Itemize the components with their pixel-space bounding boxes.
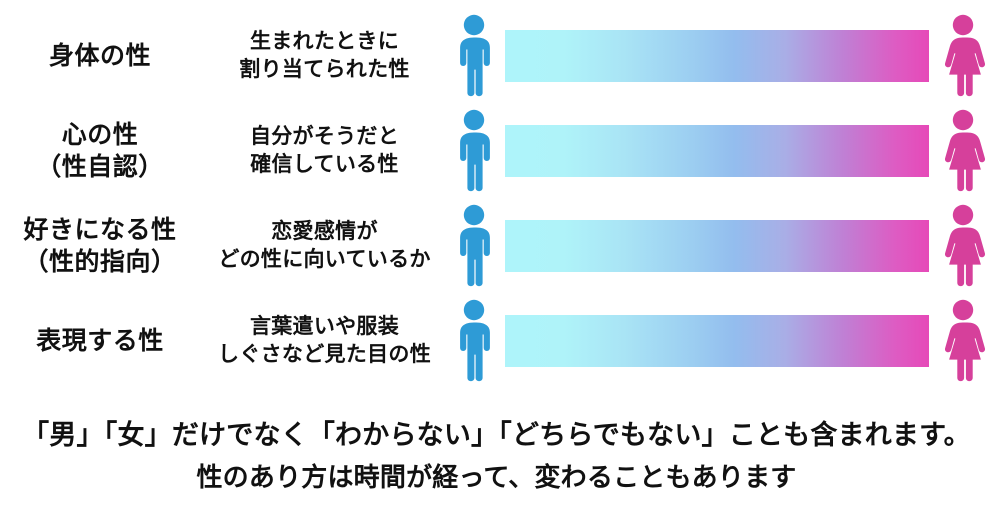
diagram-row: 身体の性 生まれたときに 割り当てられた性 xyxy=(0,8,993,103)
female-figure-icon xyxy=(933,14,993,98)
row-category-label: 身体の性 xyxy=(0,40,200,72)
male-figure-icon xyxy=(447,204,501,288)
row-description-label: 生まれたときに 割り当てられた性 xyxy=(202,28,447,83)
row-category-label: 表現する性 xyxy=(0,325,200,357)
gender-spectrum-bar xyxy=(505,315,929,367)
row-description-label: 言葉遣いや服装 しぐさなど見た目の性 xyxy=(202,313,447,368)
gender-spectrum-bar xyxy=(505,125,929,177)
row-category-label: 心の性 （性自認） xyxy=(0,119,200,183)
diagram-row: 好きになる性 （性的指向） 恋愛感情が どの性に向いているか xyxy=(0,198,993,293)
diagram-caption: 「男」「女」だけでなく「わからない」「どちらでもない」ことも含まれます。 性のあ… xyxy=(0,415,993,499)
gender-spectrum-diagram: 身体の性 生まれたときに 割り当てられた性 心の性 （性自認） 自分がそうだと … xyxy=(0,0,993,400)
gender-spectrum-bar xyxy=(505,30,929,82)
row-category-label: 好きになる性 （性的指向） xyxy=(0,214,200,278)
row-description-label: 自分がそうだと 確信している性 xyxy=(202,123,447,178)
female-figure-icon xyxy=(933,109,993,193)
female-figure-icon xyxy=(933,204,993,288)
male-figure-icon xyxy=(447,14,501,98)
diagram-row: 心の性 （性自認） 自分がそうだと 確信している性 xyxy=(0,103,993,198)
row-description-label: 恋愛感情が どの性に向いているか xyxy=(202,218,447,273)
gender-spectrum-bar xyxy=(505,220,929,272)
female-figure-icon xyxy=(933,299,993,383)
caption-line-2: 性のあり方は時間が経って、変わることもあります xyxy=(0,458,993,499)
diagram-row: 表現する性 言葉遣いや服装 しぐさなど見た目の性 xyxy=(0,293,993,388)
male-figure-icon xyxy=(447,109,501,193)
caption-line-1: 「男」「女」だけでなく「わからない」「どちらでもない」ことも含まれます。 xyxy=(0,415,993,458)
male-figure-icon xyxy=(447,299,501,383)
